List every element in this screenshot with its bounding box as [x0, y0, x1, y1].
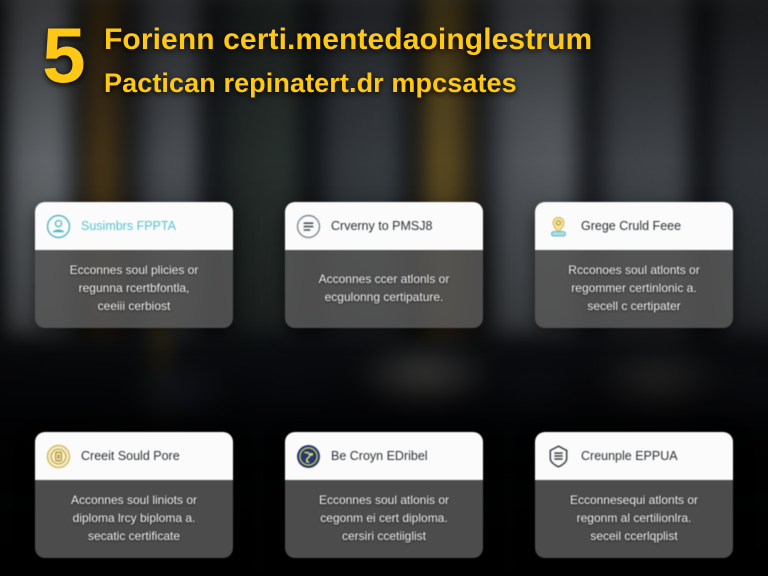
card-body: Ecconnes soul plicies or regunna rcertbf…: [35, 250, 233, 328]
card-grid: Susimbrs FPPTA Ecconnes soul plicies or …: [35, 202, 735, 558]
card-title: Creeit Sould Pore: [81, 449, 180, 463]
card-title: Grege Cruld Feee: [581, 219, 681, 233]
card-body-line: secatic certificate: [88, 529, 180, 544]
card-body-line: Acconnes ccer atlonls or: [319, 272, 450, 287]
headline-line-1: Forienn certi.mentedaoinglestrum: [104, 22, 592, 58]
card-body-line: Acconnes soul liniots or: [71, 493, 197, 508]
card-title: Susimbrs FPPTA: [81, 219, 176, 233]
slide-canvas: 5 Forienn certi.mentedaoinglestrum Pacti…: [0, 0, 768, 576]
headline-line-2: Pactican repinatert.dr mpcsates: [104, 66, 592, 100]
card-item[interactable]: Susimbrs FPPTA Ecconnes soul plicies or …: [35, 202, 233, 328]
card-header: Creunple EPPUA: [535, 432, 733, 480]
card-body: Acconnes ccer atlonls or ecgulonng certi…: [285, 250, 483, 328]
card-body-line: ecgulonng certipature.: [325, 290, 444, 305]
location-pin-badge-icon: [545, 213, 572, 240]
card-body-line: secell c certipater: [587, 299, 680, 314]
card-item[interactable]: Grege Cruld Feee Rcconoes soul atlonts o…: [535, 202, 733, 328]
document-lines-circle-icon: [295, 213, 322, 240]
card-body-line: regunna rcertbfontla,: [79, 281, 190, 296]
blue-seal-badge-icon: [295, 443, 322, 470]
card-header: Crverny to PMSJ8: [285, 202, 483, 250]
card-title: Creunple EPPUA: [581, 449, 678, 463]
card-body-line: regommer certinlonic a.: [571, 281, 696, 296]
card-header: Susimbrs FPPTA: [35, 202, 233, 250]
card-body-line: Ecconnesequi atlonts or: [570, 493, 698, 508]
card-body: Ecconnesequi atlonts or regonm al certil…: [535, 480, 733, 558]
card-body-line: regonm al certilionlra.: [577, 511, 692, 526]
card-header: Creeit Sould Pore: [35, 432, 233, 480]
card-body-line: ceeiii cerbiost: [98, 299, 171, 314]
card-body-line: seceil ccerlqplist: [590, 529, 677, 544]
card-item[interactable]: Be Croyn EDribel Ecconnes soul atlonis o…: [285, 432, 483, 558]
card-body-line: cegonm ei cert diploma.: [320, 511, 447, 526]
card-header: Grege Cruld Feee: [535, 202, 733, 250]
card-item[interactable]: Crverny to PMSJ8 Acconnes ccer atlonls o…: [285, 202, 483, 328]
headline-text-block: Forienn certi.mentedaoinglestrum Pactica…: [104, 22, 592, 100]
card-title: Crverny to PMSJ8: [331, 219, 432, 233]
shield-document-icon: [545, 443, 572, 470]
coin-circle-icon: [45, 443, 72, 470]
card-body-line: Ecconnes soul plicies or: [70, 263, 199, 278]
card-header: Be Croyn EDribel: [285, 432, 483, 480]
card-body-line: Rcconoes soul atlonts or: [568, 263, 699, 278]
badge-person-circle-icon: [45, 213, 72, 240]
slide-header: 5 Forienn certi.mentedaoinglestrum Pacti…: [0, 14, 768, 126]
card-body: Ecconnes soul atlonis or cegonm ei cert …: [285, 480, 483, 558]
card-body-line: diploma lrcy biploma a.: [73, 511, 196, 526]
card-item[interactable]: Creeit Sould Pore Acconnes soul liniots …: [35, 432, 233, 558]
card-body-line: cersiri ccetiiglist: [342, 529, 426, 544]
card-body-line: Ecconnes soul atlonis or: [319, 493, 449, 508]
card-title: Be Croyn EDribel: [331, 449, 428, 463]
card-item[interactable]: Creunple EPPUA Ecconnesequi atlonts or r…: [535, 432, 733, 558]
headline-number: 5: [30, 18, 96, 92]
card-body: Acconnes soul liniots or diploma lrcy bi…: [35, 480, 233, 558]
card-body: Rcconoes soul atlonts or regommer certin…: [535, 250, 733, 328]
